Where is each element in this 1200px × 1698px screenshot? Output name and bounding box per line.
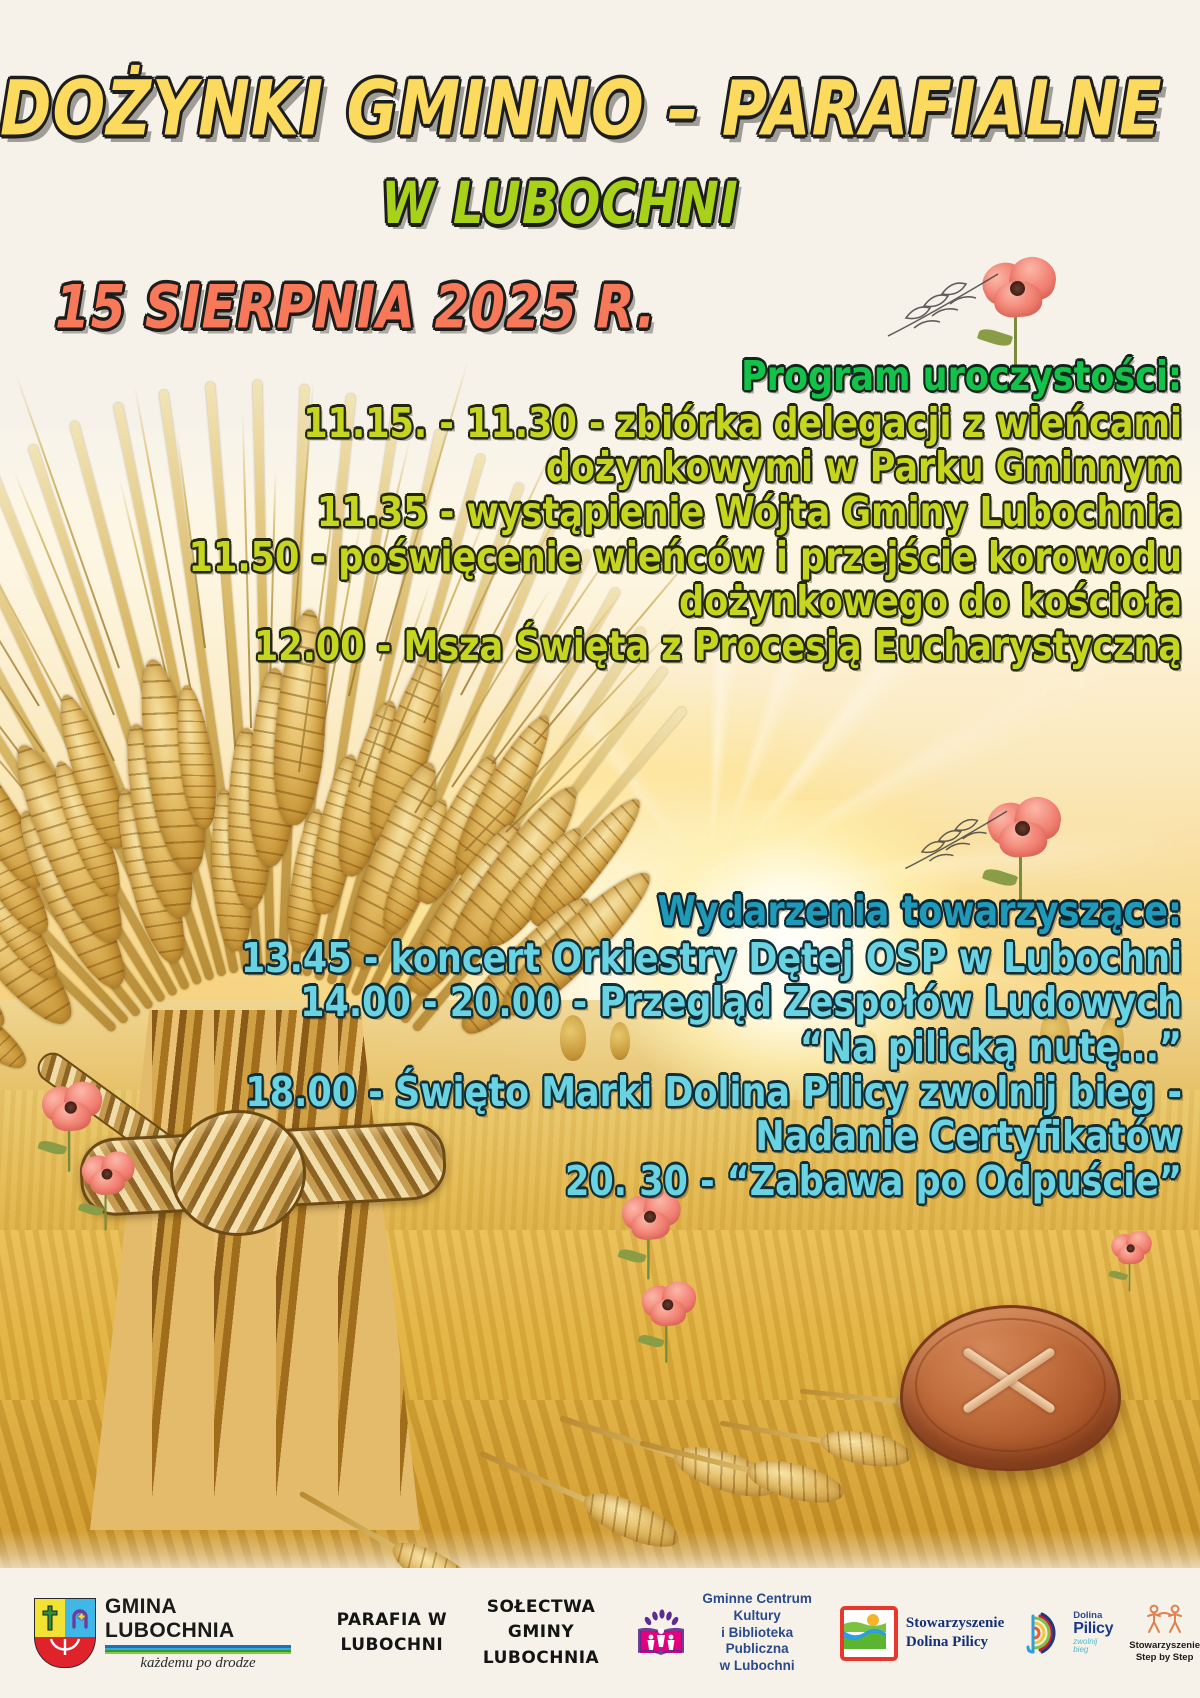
scythe-icon xyxy=(45,1637,85,1665)
solectwa-line2: GMINY LUBOCHNIA xyxy=(469,1620,614,1671)
poppy-center xyxy=(65,1101,77,1113)
sbs-line2: Step by Step xyxy=(1129,1652,1200,1664)
gmina-slogan: każdemu po drodze xyxy=(105,1655,291,1672)
crest-top xyxy=(34,1598,96,1638)
events-line: 20. 30 - “Zabawa po Odpuście” xyxy=(112,1162,1182,1204)
poppy-center xyxy=(1010,281,1025,296)
logo-stowarzyszenie-dolina-pilicy: Stowarzyszenie Dolina Pilicy xyxy=(840,1606,1004,1661)
sbs-text-block: Stowarzyszenie Step by Step xyxy=(1129,1640,1200,1664)
horseshoe-icon xyxy=(70,1605,90,1631)
dpz-line3: zwolnij bieg xyxy=(1073,1638,1113,1655)
gmina-crest-icon xyxy=(34,1598,96,1668)
sponsor-footer: GMINA LUBOCHNIA każdemu po drodze PARAFI… xyxy=(0,1568,1200,1698)
dolina-pilicy-arc-icon xyxy=(1022,1610,1068,1656)
program-line: 11.35 - wystąpienie Wójta Gminy Lubochni… xyxy=(112,493,1182,535)
poster-title-line1: DOŻYNKI GMINNO – PARAFIALNE xyxy=(0,71,1120,147)
program-line: dożynkowymi w Parku Gminnym xyxy=(112,448,1182,490)
dpz-text-block: Dolina Pilicy zwolnij bieg xyxy=(1073,1611,1113,1655)
gmina-color-bars xyxy=(105,1645,291,1654)
cross-icon xyxy=(40,1605,60,1631)
events-line: Nadanie Certyfikatów xyxy=(112,1117,1182,1159)
wheat-doodle-icon xyxy=(880,258,1010,348)
poppy-center xyxy=(102,1169,113,1180)
events-line: “Na pilicką nutę...” xyxy=(112,1028,1182,1070)
solectwa-line1: SOŁECTWA xyxy=(469,1595,614,1621)
poppy-center xyxy=(1127,1244,1135,1252)
gckib-text-block: Gminne Centrum Kultury i Biblioteka Publ… xyxy=(694,1591,820,1675)
events-line: 14.00 - 20.00 - Przegląd Zespołów Ludowy… xyxy=(112,983,1182,1025)
gmina-text-block: GMINA LUBOCHNIA każdemu po drodze xyxy=(105,1595,291,1672)
crest-cross-field xyxy=(35,1599,65,1637)
logo-gckib: Gminne Centrum Kultury i Biblioteka Publ… xyxy=(635,1591,820,1675)
gckib-line1: Gminne Centrum Kultury xyxy=(694,1591,820,1625)
events-line: 13.45 - koncert Orkiestry Dętej OSP w Lu… xyxy=(112,938,1182,980)
logo-gmina-lubochnia: GMINA LUBOCHNIA każdemu po drodze xyxy=(34,1595,291,1672)
sdp-line2: Dolina Pilicy xyxy=(906,1633,1004,1653)
program-line: 12.00 - Msza Święta z Procesją Eucharyst… xyxy=(112,627,1182,669)
program-line: 11.50 - poświęcenie wieńców i przejście … xyxy=(112,538,1182,580)
events-section: Wydarzenia towarzyszące: 13.45 - koncert… xyxy=(112,895,1182,1210)
crest-bottom xyxy=(34,1637,96,1668)
poster-canvas: DOŻYNKI GMINNO – PARAFIALNE W LUBOCHNI 1… xyxy=(0,0,1200,1698)
logo-dolina-pilicy-brand: Dolina Pilicy zwolnij bieg xyxy=(1022,1610,1113,1656)
program-line: dożynkowego do kościoła xyxy=(112,582,1182,624)
program-line: 11.15. - 11.30 - zbiórka delegacji z wie… xyxy=(112,403,1182,445)
sdp-text-block: Stowarzyszenie Dolina Pilicy xyxy=(906,1614,1004,1653)
step-by-step-figures-icon xyxy=(1142,1602,1188,1638)
sdp-line1: Stowarzyszenie xyxy=(906,1614,1004,1634)
poster-date: 15 SIERPNIA 2025 R. xyxy=(55,277,656,337)
logo-step-by-step: Stowarzyszenie Step by Step xyxy=(1129,1602,1200,1664)
logo-parafia: PARAFIA W LUBOCHNI xyxy=(333,1608,451,1659)
poppy-center xyxy=(644,1211,656,1223)
crest-horseshoe-field xyxy=(65,1599,95,1637)
parafia-line1: PARAFIA W xyxy=(333,1608,451,1634)
program-header: Program uroczystości: xyxy=(112,357,1182,399)
program-section: Program uroczystości: 11.15. - 11.30 - z… xyxy=(112,360,1182,675)
poppy-center xyxy=(662,1299,673,1310)
wheat-doodle-icon xyxy=(898,795,1018,881)
gckib-people-book-icon xyxy=(635,1607,687,1659)
logo-solectwa: SOŁECTWA GMINY LUBOCHNIA xyxy=(469,1595,614,1672)
gckib-line3: w Lubochni xyxy=(694,1658,820,1675)
dolina-pilicy-landscape-icon xyxy=(840,1606,898,1661)
dpz-line2: Pilicy xyxy=(1073,1621,1113,1638)
sbs-line1: Stowarzyszenie xyxy=(1129,1640,1200,1652)
events-header: Wydarzenia towarzyszące: xyxy=(112,892,1182,934)
poster-title-line2: W LUBOCHNI xyxy=(0,175,1120,233)
parafia-line2: LUBOCHNI xyxy=(333,1633,451,1659)
events-line: 18.00 - Święto Marki Dolina Pilicy zwoln… xyxy=(112,1073,1182,1115)
gmina-name: GMINA LUBOCHNIA xyxy=(105,1595,291,1643)
gckib-line2: i Biblioteka Publiczna xyxy=(694,1625,820,1659)
